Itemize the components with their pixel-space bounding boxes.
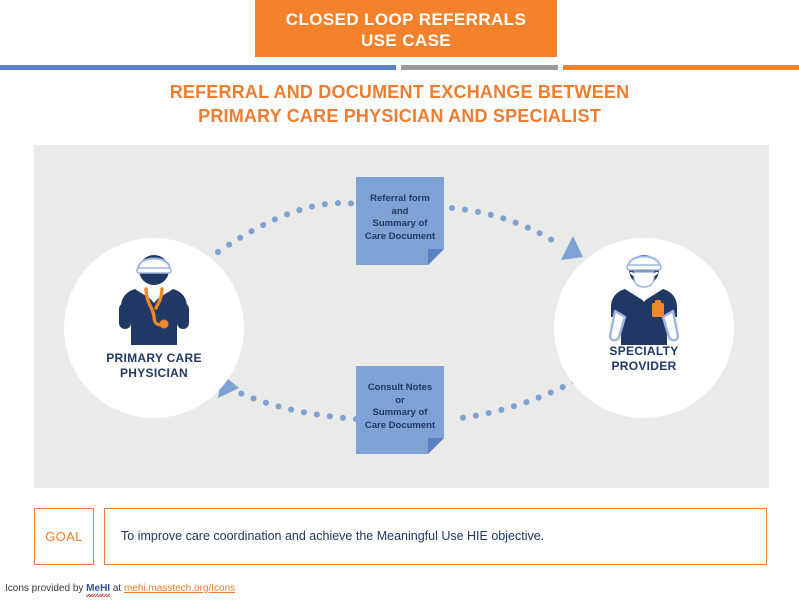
banner-title-line-2: USE CASE (361, 30, 451, 51)
doc-referral-line-4: Care Document (365, 231, 435, 244)
separator-segment-gray (401, 65, 558, 70)
doc-consult-line-3: Summary of (373, 407, 428, 420)
node-label-specialty-provider: SPECIALTY PROVIDER (544, 344, 744, 374)
document-consult: Consult Notes or Summary of Care Documen… (356, 366, 444, 454)
doc-consult-line-2: or (395, 395, 405, 408)
use-case-banner: CLOSED LOOP REFERRALS USE CASE (255, 0, 557, 57)
doc-referral-line-1: Referral form (370, 193, 430, 206)
goal-box: To improve care coordination and achieve… (104, 508, 767, 565)
attribution-middle: at (110, 583, 124, 594)
doc-referral-line-3: Summary of (373, 218, 428, 231)
node-label-primary-care-physician: PRIMARY CARE PHYSICIAN (54, 351, 254, 381)
pcp-label-line-2: PHYSICIAN (54, 366, 254, 381)
document-referral-text: Referral form and Summary of Care Docume… (356, 177, 444, 265)
page-title: REFERRAL AND DOCUMENT EXCHANGE BETWEEN P… (0, 80, 799, 128)
page-title-line-1: REFERRAL AND DOCUMENT EXCHANGE BETWEEN (0, 80, 799, 104)
document-consult-text: Consult Notes or Summary of Care Documen… (356, 366, 444, 454)
specialist-icon (589, 245, 699, 355)
doc-consult-line-1: Consult Notes (368, 382, 432, 395)
separator-segment-blue (0, 65, 396, 70)
goal-tag-label: GOAL (45, 529, 83, 544)
specialist-label-line-2: PROVIDER (544, 359, 744, 374)
attribution: Icons provided by MeHI at mehi.masstech.… (5, 583, 235, 594)
specialist-label-line-1: SPECIALTY (544, 344, 744, 359)
banner-title-line-1: CLOSED LOOP REFERRALS (286, 9, 526, 30)
doc-referral-line-2: and (392, 206, 409, 219)
separator-segment-orange (563, 65, 799, 70)
goal-text: To improve care coordination and achieve… (105, 528, 544, 545)
mehi-brand-link[interactable]: MeHI (86, 583, 110, 594)
page-title-line-2: PRIMARY CARE PHYSICIAN AND SPECIALIST (0, 104, 799, 128)
doc-consult-line-4: Care Document (365, 420, 435, 433)
physician-icon (99, 245, 209, 355)
pcp-label-line-1: PRIMARY CARE (54, 351, 254, 366)
goal-tag: GOAL (34, 508, 94, 565)
mehi-icons-url-link[interactable]: mehi.masstech.org/Icons (124, 583, 235, 594)
document-referral: Referral form and Summary of Care Docume… (356, 177, 444, 265)
attribution-prefix: Icons provided by (5, 583, 86, 594)
